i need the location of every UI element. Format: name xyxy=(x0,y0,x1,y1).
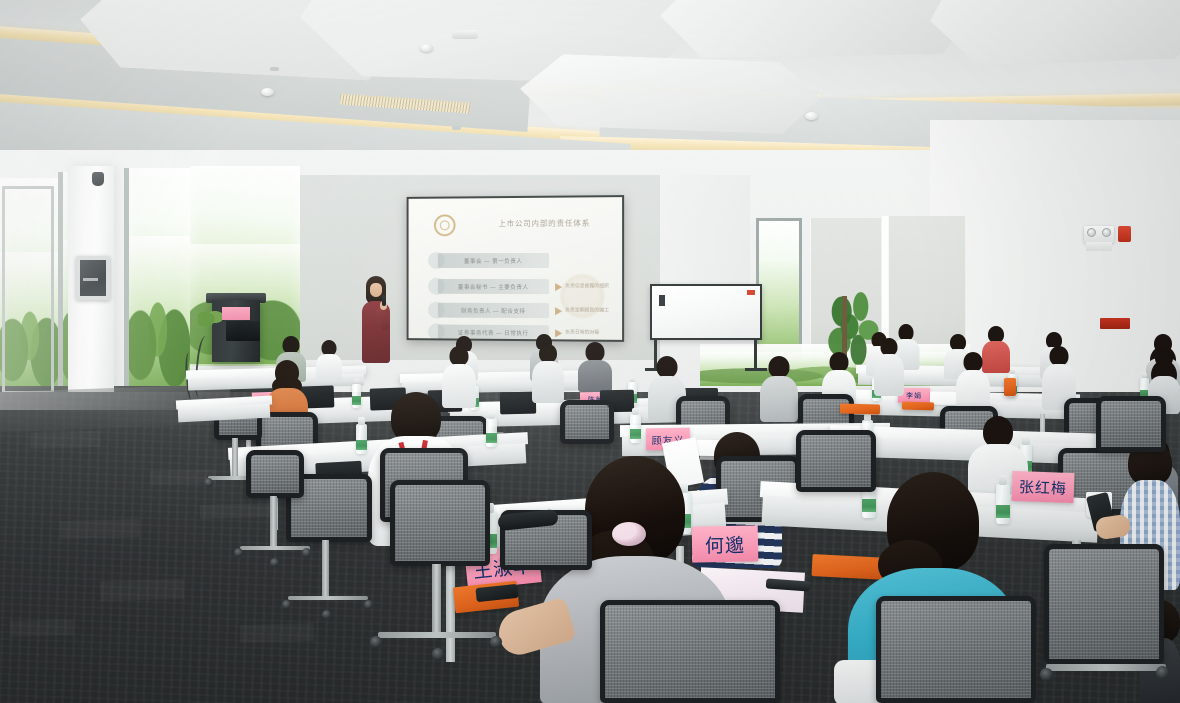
window-mullion xyxy=(58,172,63,398)
desk-leg xyxy=(446,566,455,662)
chair[interactable] xyxy=(390,480,490,566)
fire-alarm-icon xyxy=(1118,226,1131,242)
chair[interactable] xyxy=(560,400,614,444)
seminar-room-photo: 上市公司内部的责任体系 董事会 — 第一负责人 董事会秘书 — 主要负责人 负责… xyxy=(0,0,1180,703)
wall-control-panel[interactable] xyxy=(76,256,110,300)
whiteboard-surface[interactable] xyxy=(650,284,762,340)
smoke-detector xyxy=(261,88,274,96)
whiteboard-clip-icon xyxy=(747,290,755,295)
female-presenter xyxy=(358,276,392,362)
chair-base xyxy=(240,546,310,550)
window-mullion xyxy=(124,168,129,396)
attendee-a-mid2 xyxy=(532,344,564,402)
water-bottle xyxy=(356,424,367,454)
slide-bullet-2: 财务负责人 — 配合支持 xyxy=(438,303,549,319)
water-bottle xyxy=(352,384,361,408)
orange-folder xyxy=(1004,378,1016,396)
glass-door-frame xyxy=(2,186,54,394)
chair[interactable] xyxy=(1096,396,1166,452)
chair-backrest xyxy=(560,400,614,444)
chair-post xyxy=(322,540,329,598)
chair-caster xyxy=(270,558,279,567)
laptop xyxy=(500,392,536,415)
ceiling-speaker xyxy=(452,30,478,39)
attendee-a-mid4 xyxy=(760,356,798,420)
chair-base xyxy=(378,632,496,638)
chair[interactable] xyxy=(246,450,304,498)
chair-base xyxy=(1046,664,1166,671)
lectern-monitor xyxy=(226,321,260,341)
chair-post xyxy=(232,438,238,478)
whiteboard-leg xyxy=(754,339,757,370)
chair-caster xyxy=(432,648,444,660)
chair-caster xyxy=(234,548,243,557)
orange-notebook xyxy=(840,403,880,414)
slide-watermark xyxy=(551,265,614,328)
attendee-a-mid6 xyxy=(874,338,904,394)
emergency-light xyxy=(1084,226,1114,243)
chair-post xyxy=(270,496,277,548)
slide-title: 上市公司内部的责任体系 xyxy=(479,217,610,229)
chair[interactable] xyxy=(796,430,876,492)
chair-caster xyxy=(490,636,502,648)
hex-ceiling-panel xyxy=(928,0,1180,67)
chair[interactable] xyxy=(1044,544,1164,664)
water-bottle xyxy=(486,418,497,447)
ceiling-fixture xyxy=(270,67,279,71)
security-camera-icon xyxy=(92,172,104,186)
orange-notebook xyxy=(902,402,934,411)
chair-caster xyxy=(322,610,331,619)
ceiling-fixture xyxy=(452,126,461,130)
outdoor-greenery xyxy=(128,236,190,392)
chair-backrest xyxy=(876,596,1036,703)
chair-backrest xyxy=(390,480,490,566)
chair-backrest xyxy=(796,430,876,492)
hex-ceiling-panel xyxy=(519,53,821,135)
chair-backrest xyxy=(1096,396,1166,452)
chair-caster xyxy=(282,600,291,609)
slide-note-3: 负责日常的对接 xyxy=(565,328,599,335)
chair-caster xyxy=(1156,666,1169,679)
power-socket-box xyxy=(1100,318,1130,329)
exit-sign xyxy=(1086,242,1112,251)
presenter-face xyxy=(370,283,382,297)
chair-caster xyxy=(302,548,311,557)
chair[interactable] xyxy=(600,600,780,703)
projection-screen[interactable]: 上市公司内部的责任体系 董事会 — 第一负责人 董事会秘书 — 主要负责人 负责… xyxy=(407,195,625,342)
window-right-frame xyxy=(756,218,802,358)
microphone-icon xyxy=(382,295,386,306)
hex-ceiling-panel xyxy=(659,0,980,59)
hair-clip xyxy=(612,522,646,546)
chair[interactable] xyxy=(876,596,1036,703)
name-card: 张红梅 xyxy=(1011,471,1074,503)
chair-base xyxy=(288,596,368,600)
chair-post xyxy=(432,564,441,634)
attendee-a15 xyxy=(316,340,342,380)
desk-plant xyxy=(198,306,222,328)
chair-caster xyxy=(370,636,382,648)
smoke-detector xyxy=(805,112,818,120)
chair-backrest xyxy=(1044,544,1164,664)
lectern-name-card xyxy=(222,307,250,320)
chair-caster xyxy=(364,600,373,609)
chair-caster xyxy=(204,478,213,487)
attendee-a7 xyxy=(578,342,612,390)
chair-caster xyxy=(1040,668,1053,681)
smoke-detector xyxy=(420,44,433,52)
water-bottle xyxy=(630,414,641,443)
company-seal-logo-icon xyxy=(434,214,456,236)
slide-bullet-0: 董事会 — 第一负责人 xyxy=(438,253,549,268)
attendee-a-mid7 xyxy=(956,352,990,414)
screen-surface: 上市公司内部的责任体系 董事会 — 第一负责人 董事会秘书 — 主要负责人 负责… xyxy=(409,197,623,340)
chair-backrest xyxy=(246,450,304,498)
slide-bullet-1: 董事会秘书 — 主要负责人 xyxy=(438,279,549,294)
chair-backrest xyxy=(600,600,780,703)
